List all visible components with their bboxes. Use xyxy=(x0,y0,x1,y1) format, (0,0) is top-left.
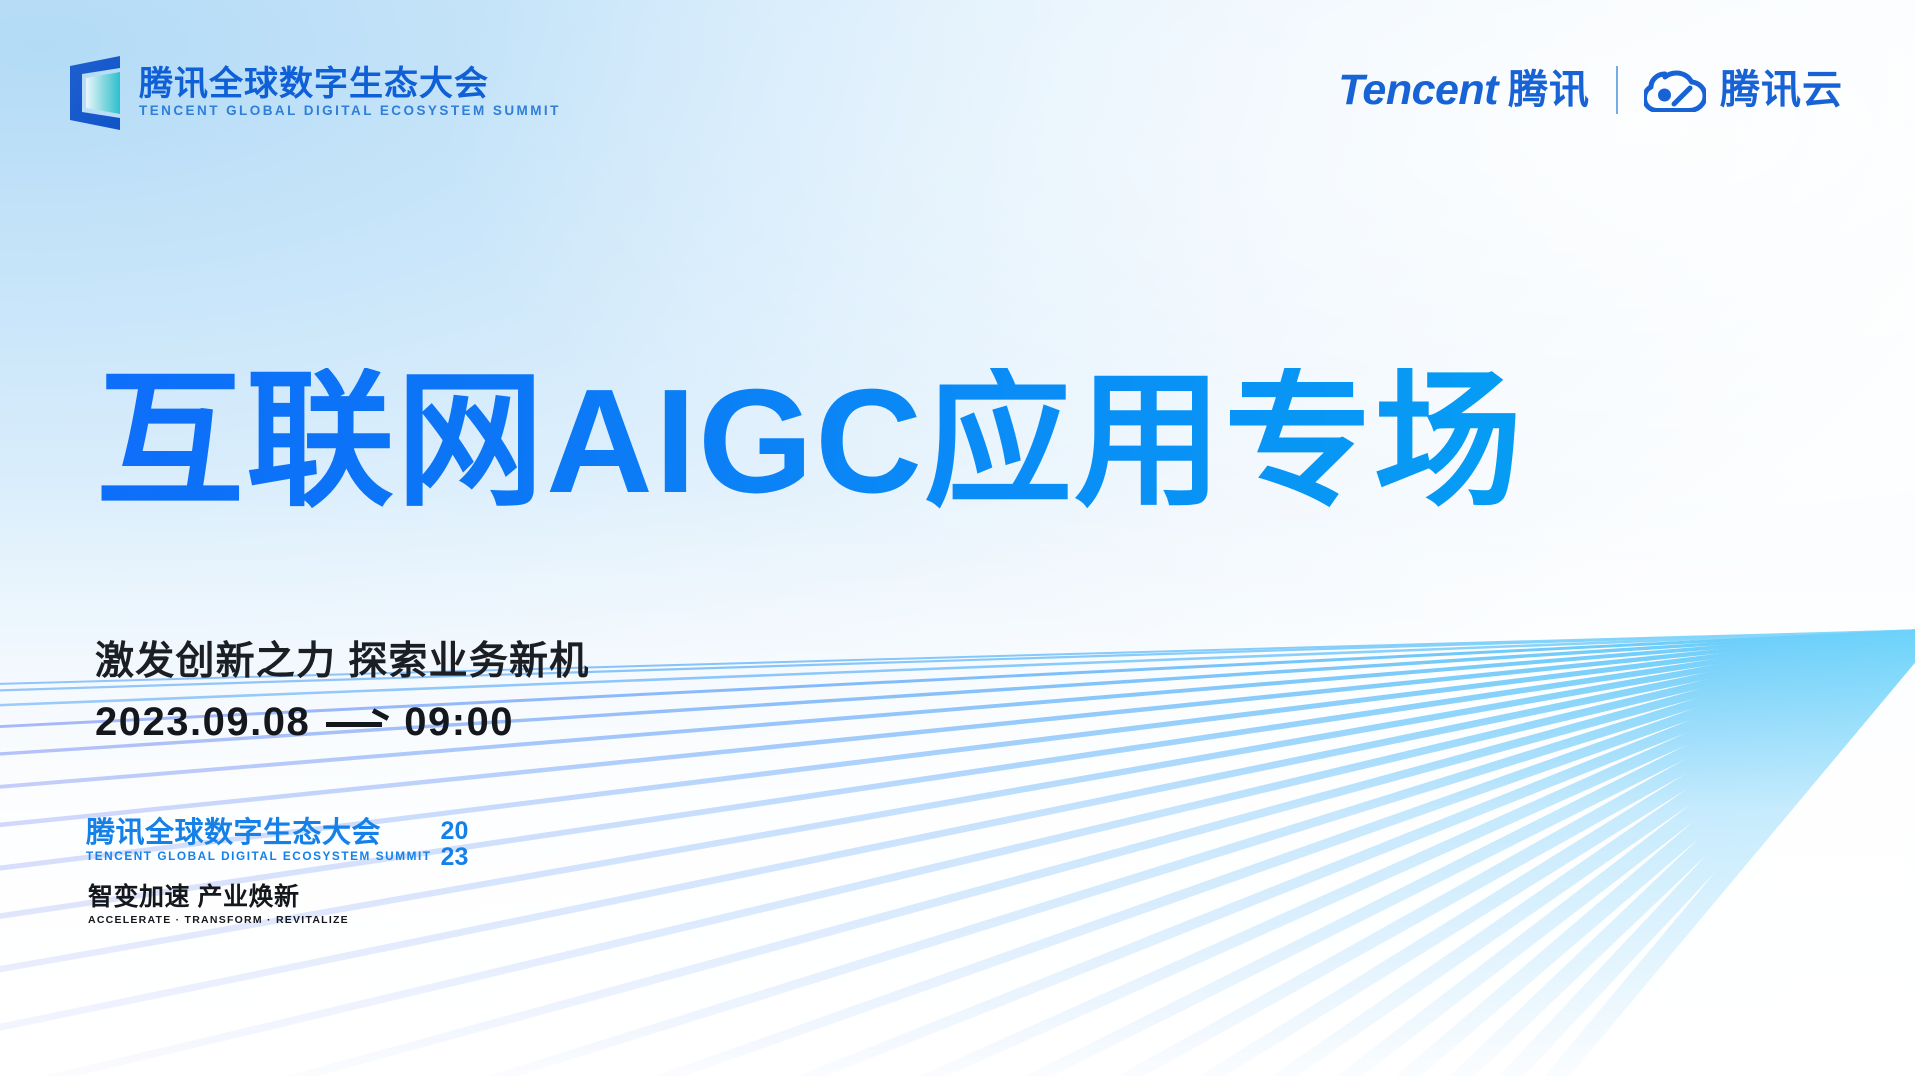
subtitle: 激发创新之力 探索业务新机 xyxy=(95,630,589,686)
event-time: 09:00 xyxy=(404,700,514,745)
tencent-cloud-logo: 腾讯云 xyxy=(1644,68,1843,112)
brand-lockup: Tencent 腾讯 腾讯云 xyxy=(1338,66,1843,114)
background-bottom-fade xyxy=(0,484,1915,1076)
event-datetime: 2023.09.08 09:00 xyxy=(95,700,514,745)
tencent-wordmark-cn: 腾讯 xyxy=(1508,70,1590,110)
footer-summit-cn: 腾讯全球数字生态大会 xyxy=(86,818,432,849)
tencent-wordmark: Tencent xyxy=(1338,69,1498,112)
tencent-cloud-label: 腾讯云 xyxy=(1720,70,1843,110)
arrow-right-icon xyxy=(326,715,388,731)
footer-year-bottom: 23 xyxy=(441,845,469,871)
event-date: 2023.09.08 xyxy=(95,700,310,745)
footer-year-top: 20 xyxy=(441,819,469,845)
summit-logo-lockup: 腾讯全球数字生态大会 TENCENT GLOBAL DIGITAL ECOSYS… xyxy=(66,56,561,130)
footer-year: 20 23 xyxy=(441,818,469,870)
summit-logo-en: TENCENT GLOBAL DIGITAL ECOSYSTEM SUMMIT xyxy=(139,104,561,119)
tencent-cloud-icon xyxy=(1644,68,1706,112)
footer-summit-lockup: 腾讯全球数字生态大会 TENCENT GLOBAL DIGITAL ECOSYS… xyxy=(86,818,468,926)
poster-header: 腾讯全球数字生态大会 TENCENT GLOBAL DIGITAL ECOSYS… xyxy=(0,0,1915,190)
footer-summit-en: TENCENT GLOBAL DIGITAL ECOSYSTEM SUMMIT xyxy=(86,849,432,864)
brand-divider xyxy=(1616,66,1618,114)
headline-block: 互联网AIGC应用专场 xyxy=(96,368,1524,516)
footer-slogan-en: ACCELERATE · TRANSFORM · REVITALIZE xyxy=(88,915,468,927)
summit-logo-cn: 腾讯全球数字生态大会 xyxy=(139,67,561,103)
footer-slogan-cn: 智变加速 产业焕新 xyxy=(88,884,468,912)
page-title: 互联网AIGC应用专场 xyxy=(96,368,1524,516)
tencent-summit-mark-icon xyxy=(66,56,124,130)
poster-canvas: 腾讯全球数字生态大会 TENCENT GLOBAL DIGITAL ECOSYS… xyxy=(0,0,1915,1076)
tencent-logo: Tencent 腾讯 xyxy=(1338,69,1590,112)
